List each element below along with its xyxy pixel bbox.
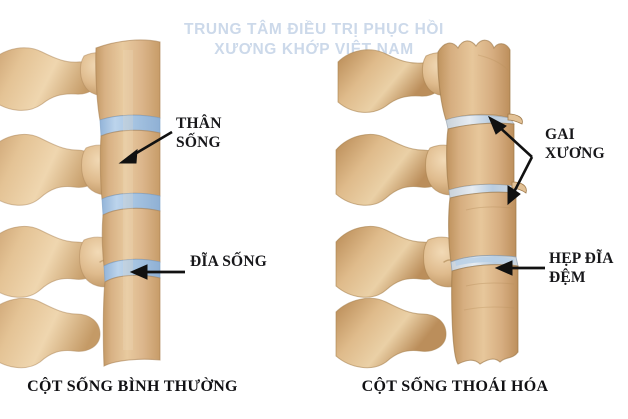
degenerative-vertebral-bodies [438,40,527,364]
normal-spine-illustration [0,40,160,368]
spine-illustrations [0,0,628,419]
caption-degenerative-spine: CỘT SỐNG THOÁI HÓA [330,378,580,396]
caption-normal-spine: CỘT SỐNG BÌNH THƯỜNG [0,378,265,396]
label-bone-spur: GAI XƯƠNG [545,125,605,163]
normal-vertebral-bodies [96,40,160,366]
label-vertebral-body: THÂN SỐNG [176,114,222,152]
label-intervertebral-disc: ĐĨA SỐNG [190,252,267,271]
degenerative-spine-illustration [336,40,526,367]
vertebral-body-spur-top [438,40,510,120]
label-disc-narrowing: HẸP ĐĨA ĐỆM [549,249,614,287]
spine-comparison-diagram: TRUNG TÂM ĐIỀU TRỊ PHỤC HỒI XƯƠNG KHỚP V… [0,0,628,419]
